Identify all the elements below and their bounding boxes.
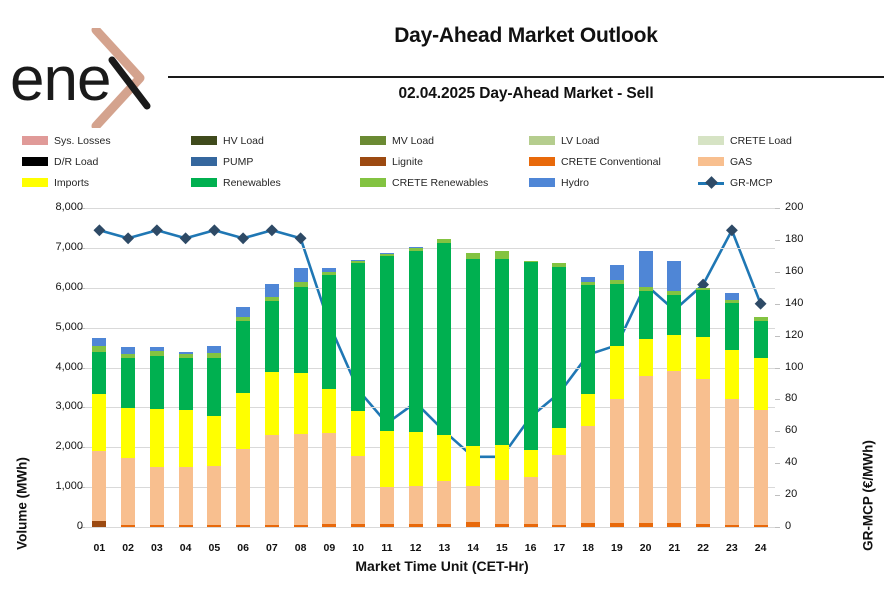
y-tick-label-primary: 1,000 xyxy=(23,480,83,492)
y-tick-label-primary: 5,000 xyxy=(23,321,83,333)
bar-segment-gas xyxy=(92,451,106,520)
legend-item-label: GR-MCP xyxy=(730,177,773,189)
bar-segment-imports xyxy=(409,432,423,487)
y-tick-label-secondary: 60 xyxy=(785,424,831,436)
y-tick-label-secondary: 200 xyxy=(785,201,831,213)
gridline xyxy=(85,527,775,528)
x-tick-label-02: 02 xyxy=(114,542,142,554)
bar-column-18[interactable] xyxy=(581,277,595,527)
y-tick-mark-secondary xyxy=(775,368,780,369)
bar-segment-renewables xyxy=(322,275,336,389)
header-divider xyxy=(168,76,884,78)
x-tick-label-17: 17 xyxy=(545,542,573,554)
x-tick-label-05: 05 xyxy=(200,542,228,554)
y-tick-label-primary: 2,000 xyxy=(23,440,83,452)
bar-segment-crete-renewables xyxy=(495,251,509,259)
x-tick-label-12: 12 xyxy=(402,542,430,554)
x-tick-label-22: 22 xyxy=(689,542,717,554)
y-tick-label-secondary: 0 xyxy=(785,520,831,532)
bar-segment-crete-conventional xyxy=(150,525,164,527)
gr-mcp-marker-02[interactable] xyxy=(122,232,134,244)
bar-column-14[interactable] xyxy=(466,253,480,527)
y-tick-mark-secondary xyxy=(775,495,780,496)
x-tick-label-04: 04 xyxy=(172,542,200,554)
bar-segment-renewables xyxy=(409,251,423,432)
bar-segment-renewables xyxy=(495,259,509,445)
chart-area: Volume (MWh) GR-MCP (€/MWh) Market Time … xyxy=(0,196,884,598)
bar-segment-imports xyxy=(667,335,681,371)
legend-item-label: Hydro xyxy=(561,177,589,189)
bar-segment-imports xyxy=(725,350,739,399)
y-tick-label-secondary: 20 xyxy=(785,488,831,500)
legend-swatch-icon xyxy=(360,178,386,187)
bar-segment-imports xyxy=(639,339,653,376)
bar-column-21[interactable] xyxy=(667,261,681,527)
bar-segment-hydro xyxy=(92,338,106,346)
bar-segment-renewables xyxy=(207,358,221,415)
legend-swatch-icon xyxy=(22,136,48,145)
y-tick-label-primary: 4,000 xyxy=(23,361,83,373)
bar-segment-gas xyxy=(179,467,193,524)
bar-segment-crete-conventional xyxy=(610,523,624,527)
legend-item-mv-load[interactable]: MV Load xyxy=(360,135,529,147)
bar-segment-imports xyxy=(610,346,624,398)
bar-column-22[interactable] xyxy=(696,288,710,527)
gridline xyxy=(85,248,775,249)
legend-item-label: D/R Load xyxy=(54,156,98,168)
bar-segment-lignite xyxy=(92,521,106,527)
bar-segment-crete-conventional xyxy=(466,522,480,527)
bar-segment-crete-conventional xyxy=(524,524,538,527)
bar-column-19[interactable] xyxy=(610,265,624,527)
y-tick-label-primary: 8,000 xyxy=(23,201,83,213)
gr-mcp-marker-01[interactable] xyxy=(93,224,105,236)
x-tick-label-18: 18 xyxy=(574,542,602,554)
bar-segment-gas xyxy=(754,410,768,526)
bar-column-02[interactable] xyxy=(121,347,135,527)
x-tick-label-01: 01 xyxy=(85,542,113,554)
gr-mcp-marker-06[interactable] xyxy=(237,232,249,244)
y-tick-label-secondary: 140 xyxy=(785,297,831,309)
y-tick-label-secondary: 180 xyxy=(785,233,831,245)
bar-segment-crete-conventional xyxy=(207,525,221,527)
bar-segment-renewables xyxy=(179,358,193,409)
gr-mcp-marker-07[interactable] xyxy=(266,224,278,236)
bar-segment-hydro xyxy=(294,268,308,282)
bar-column-23[interactable] xyxy=(725,293,739,527)
legend-item-label: Sys. Losses xyxy=(54,135,111,147)
legend-item-crete-load[interactable]: CRETE Load xyxy=(698,135,867,147)
bar-segment-imports xyxy=(92,394,106,451)
y-tick-mark-secondary xyxy=(775,463,780,464)
legend-item-crete-renewables[interactable]: CRETE Renewables xyxy=(360,177,529,189)
bar-segment-renewables xyxy=(437,243,451,434)
bar-column-04[interactable] xyxy=(179,352,193,527)
gr-mcp-marker-08[interactable] xyxy=(295,232,307,244)
enex-logo: ene xyxy=(8,28,173,128)
bar-segment-crete-conventional xyxy=(179,525,193,527)
bar-segment-gas xyxy=(552,455,566,525)
x-tick-label-21: 21 xyxy=(660,542,688,554)
bar-segment-crete-conventional xyxy=(294,525,308,527)
logo-wordmark: ene xyxy=(10,45,110,114)
bar-column-06[interactable] xyxy=(236,307,250,528)
bar-segment-imports xyxy=(265,372,279,435)
bar-segment-gas xyxy=(351,456,365,525)
y-tick-mark-secondary xyxy=(775,272,780,273)
bar-segment-renewables xyxy=(639,291,653,339)
legend-swatch-icon xyxy=(22,157,48,166)
bar-segment-imports xyxy=(121,408,135,459)
bar-column-08[interactable] xyxy=(294,268,308,527)
legend-swatch-icon xyxy=(360,157,386,166)
bar-segment-crete-conventional xyxy=(380,524,394,527)
x-tick-label-09: 09 xyxy=(315,542,343,554)
bar-segment-hydro xyxy=(265,284,279,297)
bar-segment-crete-conventional xyxy=(696,524,710,527)
legend-item-crete-conventional[interactable]: CRETE Conventional xyxy=(529,156,698,168)
gr-mcp-marker-24[interactable] xyxy=(755,298,767,310)
bar-segment-renewables xyxy=(696,290,710,337)
legend-item-label: CRETE Load xyxy=(730,135,792,147)
bar-segment-imports xyxy=(236,393,250,449)
bar-segment-crete-conventional xyxy=(351,524,365,527)
bar-column-24[interactable] xyxy=(754,317,768,527)
y-tick-mark-secondary xyxy=(775,431,780,432)
legend-swatch-icon xyxy=(698,136,724,145)
x-tick-label-11: 11 xyxy=(373,542,401,554)
bar-segment-imports xyxy=(351,411,365,456)
bar-segment-imports xyxy=(437,435,451,482)
bar-segment-renewables xyxy=(610,284,624,347)
legend-item-sys-losses[interactable]: Sys. Losses xyxy=(22,135,191,147)
x-tick-label-20: 20 xyxy=(632,542,660,554)
y-tick-label-primary: 3,000 xyxy=(23,400,83,412)
bar-segment-gas xyxy=(322,433,336,525)
bar-column-05[interactable] xyxy=(207,346,221,527)
bar-segment-gas xyxy=(610,399,624,523)
gr-mcp-marker-03[interactable] xyxy=(151,224,163,236)
bar-segment-gas xyxy=(380,487,394,524)
y-tick-label-secondary: 120 xyxy=(785,329,831,341)
bar-segment-crete-conventional xyxy=(265,525,279,527)
bar-segment-imports xyxy=(294,373,308,434)
page-title: Day-Ahead Market Outlook xyxy=(168,24,884,48)
bar-column-03[interactable] xyxy=(150,347,164,527)
bar-segment-crete-conventional xyxy=(322,524,336,527)
bar-segment-hydro xyxy=(610,265,624,279)
gridline xyxy=(85,208,775,209)
legend-item-label: PUMP xyxy=(223,156,253,168)
bar-segment-imports xyxy=(696,337,710,379)
bar-segment-imports xyxy=(466,446,480,486)
bar-segment-gas xyxy=(207,466,221,524)
bar-segment-renewables xyxy=(92,352,106,394)
legend-item-d-r-load[interactable]: D/R Load xyxy=(22,156,191,168)
legend-swatch-icon xyxy=(360,136,386,145)
x-tick-label-13: 13 xyxy=(430,542,458,554)
bar-column-09[interactable] xyxy=(322,268,336,527)
bar-column-20[interactable] xyxy=(639,251,653,527)
bar-segment-crete-conventional xyxy=(409,524,423,527)
x-tick-label-03: 03 xyxy=(143,542,171,554)
gr-mcp-marker-23[interactable] xyxy=(726,224,738,236)
legend-item-lignite[interactable]: Lignite xyxy=(360,156,529,168)
legend-item-label: LV Load xyxy=(561,135,599,147)
gr-mcp-polyline xyxy=(99,230,760,456)
bar-segment-renewables xyxy=(265,301,279,372)
bar-segment-gas xyxy=(265,435,279,525)
bar-segment-crete-conventional xyxy=(236,525,250,527)
bar-segment-gas xyxy=(581,426,595,524)
x-tick-label-10: 10 xyxy=(344,542,372,554)
legend-item-hv-load[interactable]: HV Load xyxy=(191,135,360,147)
bar-segment-hydro xyxy=(639,251,653,287)
bar-segment-hydro xyxy=(207,346,221,353)
bar-column-15[interactable] xyxy=(495,251,509,527)
legend-swatch-icon xyxy=(529,178,555,187)
bar-segment-renewables xyxy=(294,287,308,372)
legend-swatch-icon xyxy=(529,157,555,166)
bar-segment-imports xyxy=(179,410,193,467)
x-tick-label-19: 19 xyxy=(603,542,631,554)
bar-segment-renewables xyxy=(351,263,365,411)
bar-segment-imports xyxy=(581,394,595,426)
bar-segment-gas xyxy=(696,379,710,525)
bar-column-10[interactable] xyxy=(351,260,365,527)
bar-segment-imports xyxy=(207,416,221,467)
bar-segment-crete-conventional xyxy=(639,523,653,527)
legend-item-renewables[interactable]: Renewables xyxy=(191,177,360,189)
y-tick-label-primary: 6,000 xyxy=(23,281,83,293)
y-tick-mark-secondary xyxy=(775,208,780,209)
legend-swatch-icon xyxy=(22,178,48,187)
x-tick-label-23: 23 xyxy=(718,542,746,554)
legend-item-gr-mcp[interactable]: GR-MCP xyxy=(698,177,867,189)
bar-segment-crete-conventional xyxy=(667,523,681,527)
bar-segment-crete-conventional xyxy=(495,524,509,527)
legend-item-pump[interactable]: PUMP xyxy=(191,156,360,168)
x-tick-label-14: 14 xyxy=(459,542,487,554)
legend-item-lv-load[interactable]: LV Load xyxy=(529,135,698,147)
bar-segment-gas xyxy=(294,434,308,525)
bar-segment-gas xyxy=(437,481,451,524)
bar-segment-renewables xyxy=(150,356,164,409)
bar-segment-imports xyxy=(552,428,566,455)
y-tick-mark-secondary xyxy=(775,399,780,400)
bar-segment-imports xyxy=(322,389,336,433)
bar-segment-renewables xyxy=(667,295,681,336)
x-tick-label-07: 07 xyxy=(258,542,286,554)
bar-segment-gas xyxy=(121,458,135,524)
legend-item-label: CRETE Renewables xyxy=(392,177,488,189)
x-axis-label: Market Time Unit (CET-Hr) xyxy=(0,558,884,574)
bar-segment-crete-conventional xyxy=(725,525,739,527)
x-tick-label-24: 24 xyxy=(747,542,775,554)
bar-segment-gas xyxy=(524,477,538,524)
y-tick-label-secondary: 40 xyxy=(785,456,831,468)
enex-logo-svg: ene xyxy=(8,28,173,128)
bar-segment-imports xyxy=(754,358,768,409)
bar-segment-renewables xyxy=(581,285,595,395)
bar-column-13[interactable] xyxy=(437,239,451,527)
bar-segment-renewables xyxy=(380,256,394,431)
legend-item-imports[interactable]: Imports xyxy=(22,177,191,189)
legend-swatch-icon xyxy=(191,136,217,145)
legend-item-label: HV Load xyxy=(223,135,264,147)
bar-column-12[interactable] xyxy=(409,247,423,527)
bar-segment-renewables xyxy=(524,262,538,449)
legend-item-label: Renewables xyxy=(223,177,281,189)
y-tick-mark-secondary xyxy=(775,240,780,241)
bar-segment-renewables xyxy=(754,321,768,358)
bar-segment-crete-conventional xyxy=(754,525,768,527)
bar-segment-crete-conventional xyxy=(437,524,451,527)
x-tick-label-08: 08 xyxy=(287,542,315,554)
x-tick-label-16: 16 xyxy=(517,542,545,554)
bar-column-01[interactable] xyxy=(92,338,106,527)
gr-mcp-marker-04[interactable] xyxy=(180,232,192,244)
bar-segment-crete-conventional xyxy=(581,523,595,527)
bar-segment-gas xyxy=(725,399,739,525)
bar-column-07[interactable] xyxy=(265,284,279,527)
page-subtitle: 02.04.2025 Day-Ahead Market - Sell xyxy=(168,85,884,103)
plot-area: 01,0002,0003,0004,0005,0006,0007,0008,00… xyxy=(85,208,775,527)
bar-segment-gas xyxy=(409,486,423,524)
bar-segment-imports xyxy=(524,450,538,478)
bar-column-16[interactable] xyxy=(524,261,538,527)
y-tick-label-secondary: 100 xyxy=(785,361,831,373)
y-tick-label-secondary: 80 xyxy=(785,392,831,404)
legend-item-hydro[interactable]: Hydro xyxy=(529,177,698,189)
legend-item-label: MV Load xyxy=(392,135,434,147)
y-tick-label-primary: 7,000 xyxy=(23,241,83,253)
legend-swatch-icon xyxy=(529,136,555,145)
y-tick-label-primary: 0 xyxy=(23,520,83,532)
y-tick-mark-secondary xyxy=(775,336,780,337)
bar-segment-crete-conventional xyxy=(552,525,566,527)
legend-line-marker-icon xyxy=(698,178,724,187)
chart-page: ene Day-Ahead Market Outlook 02.04.2025 … xyxy=(0,0,884,598)
bar-segment-renewables xyxy=(725,303,739,351)
legend-swatch-icon xyxy=(698,157,724,166)
bar-segment-gas xyxy=(495,480,509,524)
bar-segment-renewables xyxy=(121,358,135,407)
y-tick-mark-secondary xyxy=(775,527,780,528)
y-tick-label-secondary: 160 xyxy=(785,265,831,277)
legend-item-label: Imports xyxy=(54,177,89,189)
bar-segment-imports xyxy=(150,409,164,468)
legend-swatch-icon xyxy=(191,157,217,166)
legend-item-label: CRETE Conventional xyxy=(561,156,661,168)
gr-mcp-marker-05[interactable] xyxy=(208,224,220,236)
bar-segment-renewables xyxy=(236,321,250,393)
legend-item-gas[interactable]: GAS xyxy=(698,156,867,168)
bar-column-17[interactable] xyxy=(552,263,566,527)
bar-segment-hydro xyxy=(725,293,739,301)
x-tick-label-06: 06 xyxy=(229,542,257,554)
chart-legend: Sys. LossesHV LoadMV LoadLV LoadCRETE Lo… xyxy=(22,130,867,192)
legend-item-label: Lignite xyxy=(392,156,423,168)
bar-segment-crete-conventional xyxy=(121,525,135,527)
x-tick-label-15: 15 xyxy=(488,542,516,554)
legend-item-label: GAS xyxy=(730,156,752,168)
bar-segment-gas xyxy=(236,449,250,525)
bar-column-11[interactable] xyxy=(380,253,394,527)
bar-segment-gas xyxy=(667,371,681,523)
bar-segment-hydro xyxy=(667,261,681,291)
bar-segment-gas xyxy=(639,376,653,523)
bar-segment-gas xyxy=(466,486,480,522)
bar-segment-hydro xyxy=(236,307,250,317)
bar-segment-gas xyxy=(150,467,164,524)
bar-segment-imports xyxy=(380,431,394,487)
y-tick-mark-secondary xyxy=(775,304,780,305)
bar-segment-renewables xyxy=(552,267,566,427)
bar-segment-imports xyxy=(495,445,509,480)
legend-swatch-icon xyxy=(191,178,217,187)
bar-segment-renewables xyxy=(466,259,480,446)
